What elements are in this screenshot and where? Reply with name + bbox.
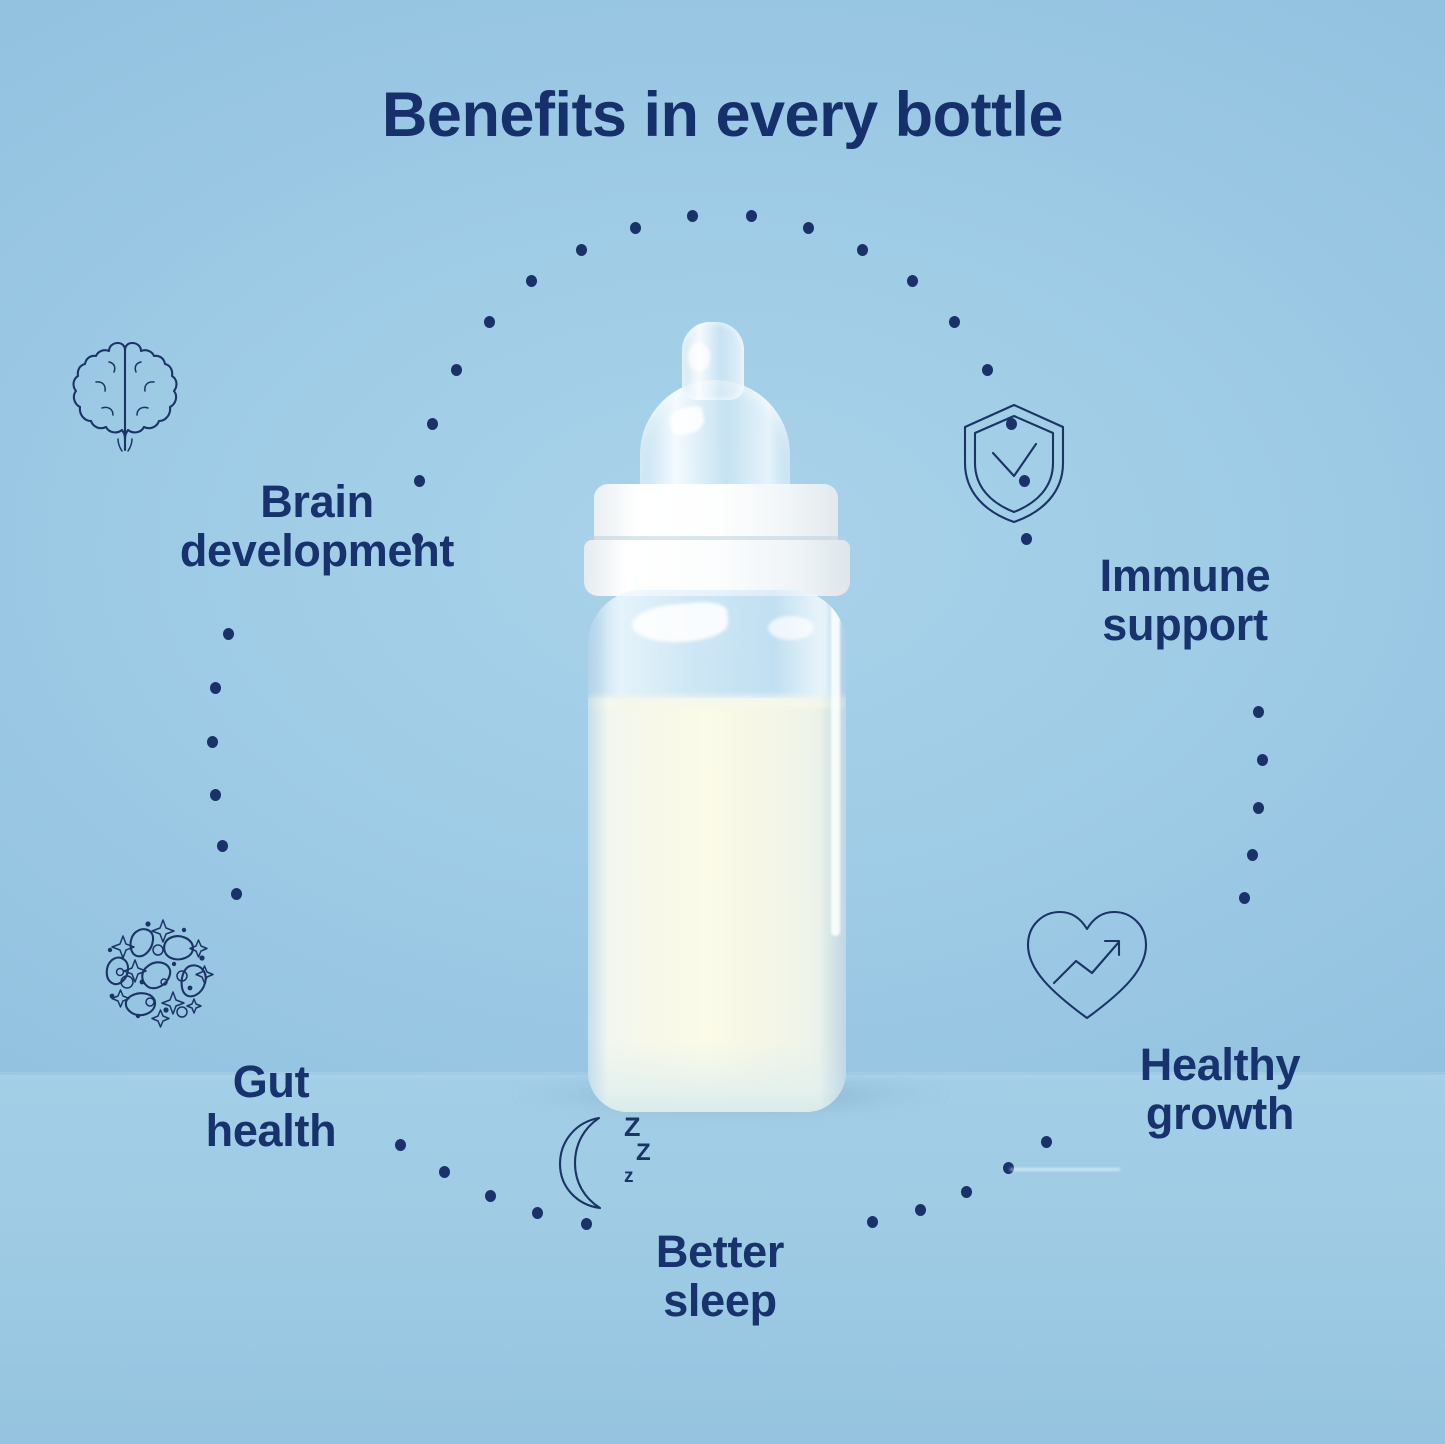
connector-dot (439, 1166, 450, 1178)
nipple-highlight-upper (688, 342, 710, 372)
connector-dot (217, 840, 228, 852)
benefit-label: Immune support (1100, 550, 1271, 650)
connector-dot (803, 222, 814, 234)
milk-surface-line (588, 694, 846, 708)
connector-dot (687, 210, 698, 222)
connector-dot (907, 275, 918, 287)
benefit-healthy-growth: Healthy growth (1020, 905, 1420, 1138)
svg-text:Z: Z (624, 1112, 641, 1142)
connector-dot (231, 888, 242, 900)
milk-bottom-sheen (588, 1040, 846, 1112)
connector-dot (207, 736, 218, 748)
benefit-gut-health: Gut health (96, 908, 446, 1155)
infographic-canvas: Benefits in every bottle (0, 0, 1445, 1444)
connector-dot (1253, 802, 1264, 814)
svg-text:Z: Z (636, 1139, 651, 1166)
connector-dot (915, 1204, 926, 1216)
connector-dot (223, 628, 234, 640)
surface-light-streak (1010, 1168, 1120, 1171)
baby-bottle-product-image (566, 322, 878, 1112)
bottle-edge-left (588, 590, 608, 1112)
connector-dot (210, 789, 221, 801)
benefit-label: Better sleep (656, 1226, 784, 1326)
page-title: Benefits in every bottle (0, 82, 1445, 148)
connector-dot (746, 210, 757, 222)
heart-growth-icon (1020, 905, 1420, 1025)
benefit-label: Gut health (206, 1056, 337, 1156)
connector-dot (961, 1186, 972, 1198)
connector-dot (526, 275, 537, 287)
bottle-body (588, 590, 846, 1112)
connector-dot (484, 316, 495, 328)
connector-dot (949, 316, 960, 328)
connector-dot (1239, 892, 1250, 904)
bottle-rim-highlight (831, 596, 840, 936)
moon-zzz-icon: Z Z z (540, 1110, 900, 1214)
glass-highlight-right (768, 616, 814, 640)
shield-check-icon (955, 400, 1415, 526)
svg-text:z: z (624, 1166, 634, 1187)
benefit-brain-development: Brain development (62, 338, 572, 575)
connector-dot (1257, 754, 1268, 766)
bottle-collar-lower (584, 540, 850, 596)
connector-dot (485, 1190, 496, 1202)
connector-dot (576, 244, 587, 256)
connector-dot (982, 364, 993, 376)
benefit-label: Healthy growth (1140, 1039, 1300, 1139)
benefit-better-sleep: Z Z z Better sleep (540, 1110, 900, 1325)
connector-dot (210, 682, 221, 694)
connector-dot (1247, 849, 1258, 861)
benefit-label: Brain development (180, 476, 454, 576)
brain-icon (62, 338, 572, 456)
benefit-immune-support: Immune support (955, 400, 1415, 649)
glass-highlight-left (631, 600, 730, 646)
connector-dot (630, 222, 641, 234)
connector-dot (1253, 706, 1264, 718)
connector-dot (857, 244, 868, 256)
gut-bacteria-icon (96, 908, 446, 1034)
